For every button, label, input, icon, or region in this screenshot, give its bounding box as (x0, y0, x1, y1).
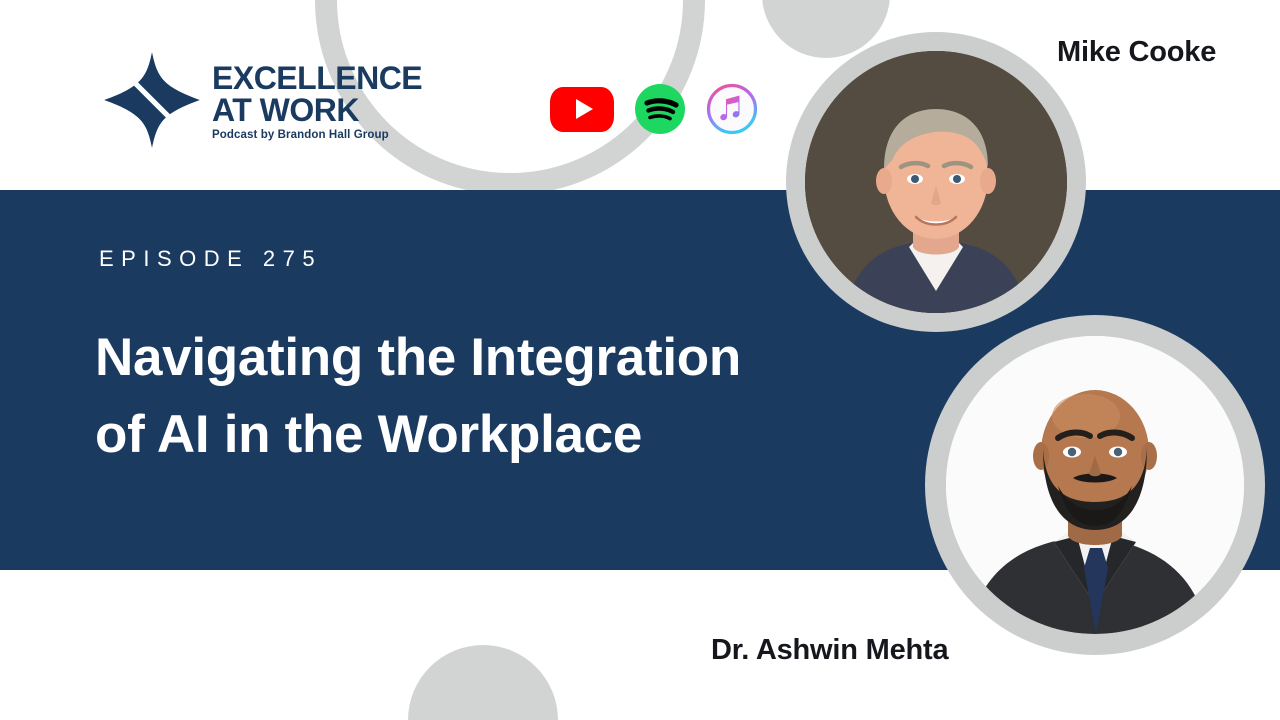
play-triangle-icon (576, 99, 593, 119)
brand-name-line-1: EXCELLENCE (212, 63, 422, 94)
guest-name-mike-cooke: Mike Cooke (1057, 36, 1216, 69)
brand-tagline: Podcast by Brandon Hall Group (212, 129, 422, 141)
platform-links (550, 83, 758, 135)
spotify-icon[interactable] (635, 84, 685, 134)
guest-portrait-mike-cooke (786, 32, 1086, 332)
episode-title: Navigating the Integration of AI in the … (95, 320, 855, 474)
avatar (805, 51, 1067, 313)
brand-logo[interactable]: EXCELLENCE AT WORK Podcast by Brandon Ha… (100, 48, 422, 152)
avatar (946, 336, 1244, 634)
episode-title-line-1: Navigating the Integration (95, 320, 855, 397)
youtube-icon[interactable] (550, 87, 614, 132)
episode-number-label: EPISODE 275 (99, 246, 322, 272)
guest-portrait-ashwin-mehta (925, 315, 1265, 655)
decorative-circle-bottom (408, 645, 558, 720)
brand-name-line-2: AT WORK (212, 95, 422, 126)
episode-title-line-2: of AI in the Workplace (95, 397, 855, 474)
episode-cover-graphic: EXCELLENCE AT WORK Podcast by Brandon Ha… (0, 0, 1280, 720)
four-point-star-icon (100, 48, 204, 152)
brand-logo-text: EXCELLENCE AT WORK Podcast by Brandon Ha… (212, 59, 422, 141)
guest-name-ashwin-mehta: Dr. Ashwin Mehta (711, 634, 948, 667)
apple-podcasts-icon[interactable] (706, 83, 758, 135)
